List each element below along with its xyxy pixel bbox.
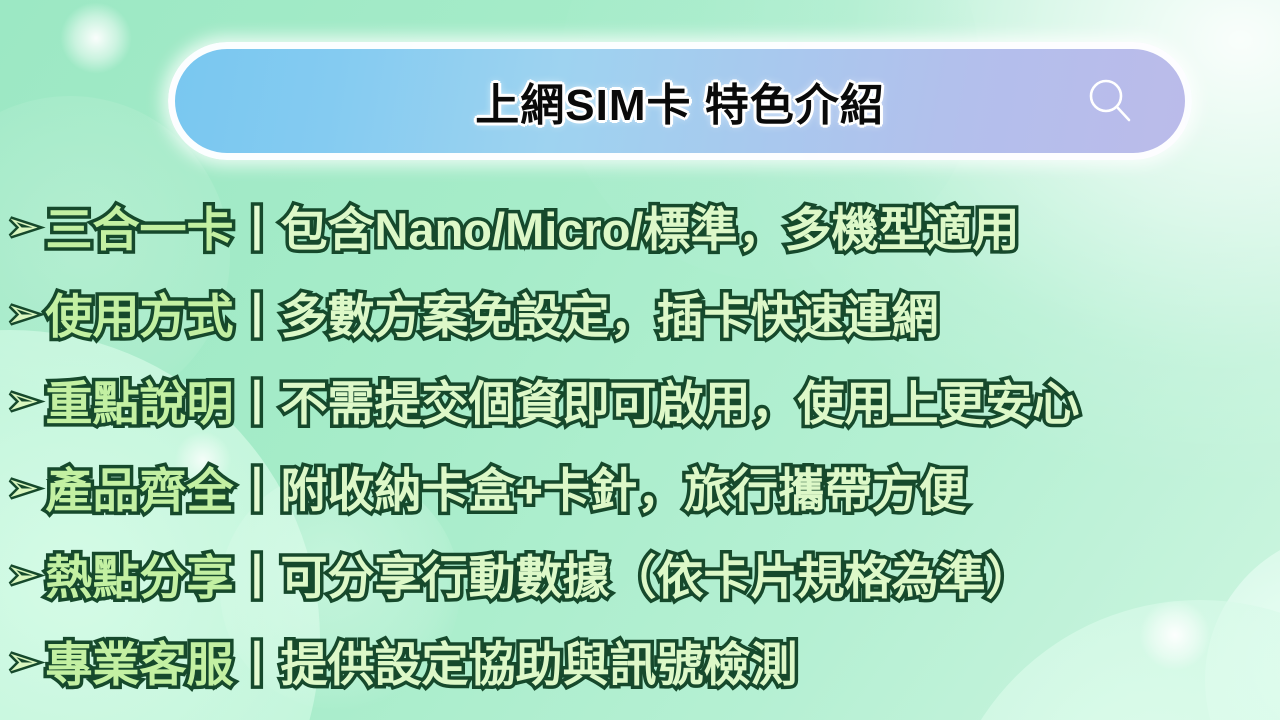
list-item: ➢ 專業客服丨提供設定協助與訊號檢測 (0, 621, 1280, 708)
arrow-bullet-icon: ➢ (6, 468, 40, 508)
title-pill: 上網SIM卡 特色介紹 (168, 42, 1192, 160)
feature-description: 提供設定協助與訊號檢測 (281, 638, 798, 691)
feature-description: 可分享行動數據（依卡片規格為準） (281, 551, 1033, 604)
list-item: ➢ 三合一卡丨包含Nano/Micro/標準，多機型適用 (0, 186, 1280, 273)
feature-separator: 丨 (234, 638, 281, 691)
feature-label: 三合一卡 (46, 203, 234, 256)
feature-separator: 丨 (234, 290, 281, 343)
feature-line: 三合一卡丨包含Nano/Micro/標準，多機型適用 (46, 205, 1020, 254)
feature-separator: 丨 (234, 551, 281, 604)
feature-description: 多數方案免設定，插卡快速連網 (281, 290, 939, 343)
arrow-bullet-icon: ➢ (6, 207, 40, 247)
arrow-bullet-icon: ➢ (6, 555, 40, 595)
feature-label: 熱點分享 (46, 551, 234, 604)
feature-list: ➢ 三合一卡丨包含Nano/Micro/標準，多機型適用 ➢ 使用方式丨多數方案… (0, 186, 1280, 708)
feature-line: 專業客服丨提供設定協助與訊號檢測 (46, 640, 798, 689)
page-title: 上網SIM卡 特色介紹 (475, 69, 884, 133)
promo-banner: 上網SIM卡 特色介紹 ➢ 三合一卡丨包含Nano/Micro/標準，多機型適用… (0, 0, 1280, 720)
arrow-bullet-icon: ➢ (6, 381, 40, 421)
list-item: ➢ 使用方式丨多數方案免設定，插卡快速連網 (0, 273, 1280, 360)
feature-separator: 丨 (234, 377, 281, 430)
list-item: ➢ 產品齊全丨附收納卡盒+卡針，旅行攜帶方便 (0, 447, 1280, 534)
feature-line: 熱點分享丨可分享行動數據（依卡片規格為準） (46, 553, 1033, 602)
feature-label: 產品齊全 (46, 464, 234, 517)
feature-separator: 丨 (234, 464, 281, 517)
feature-label: 使用方式 (46, 290, 234, 343)
feature-line: 重點說明丨不需提交個資即可啟用，使用上更安心 (46, 379, 1080, 428)
feature-description: 不需提交個資即可啟用，使用上更安心 (281, 377, 1080, 430)
list-item: ➢ 重點說明丨不需提交個資即可啟用，使用上更安心 (0, 360, 1280, 447)
feature-line: 產品齊全丨附收納卡盒+卡針，旅行攜帶方便 (46, 466, 966, 515)
decorative-glow-top-left (60, 2, 132, 74)
arrow-bullet-icon: ➢ (6, 642, 40, 682)
list-item: ➢ 熱點分享丨可分享行動數據（依卡片規格為準） (0, 534, 1280, 621)
feature-label: 重點說明 (46, 377, 234, 430)
feature-description: 包含Nano/Micro/標準，多機型適用 (281, 203, 1020, 256)
feature-label: 專業客服 (46, 638, 234, 691)
feature-separator: 丨 (234, 203, 281, 256)
arrow-bullet-icon: ➢ (6, 294, 40, 334)
feature-line: 使用方式丨多數方案免設定，插卡快速連網 (46, 292, 939, 341)
search-icon[interactable] (1083, 74, 1137, 128)
feature-description: 附收納卡盒+卡針，旅行攜帶方便 (281, 464, 966, 517)
